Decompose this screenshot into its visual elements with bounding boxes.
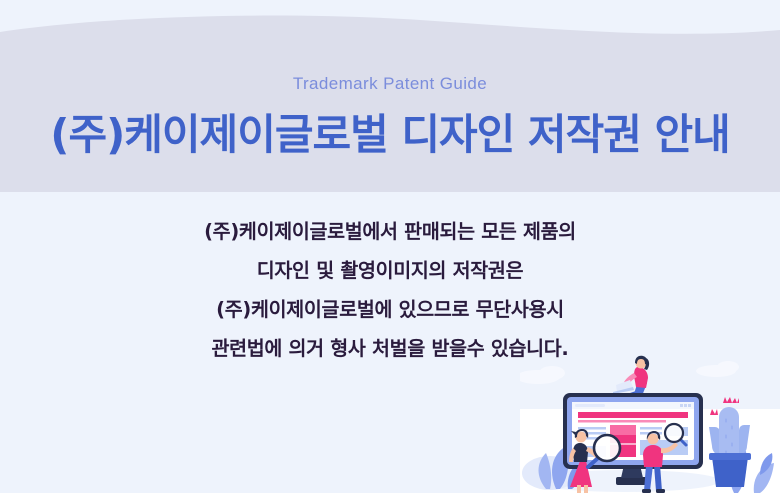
header-text-group: Trademark Patent Guide (주)케이제이글로벌 디자인 저작…	[0, 0, 780, 192]
eyebrow-label: Trademark Patent Guide	[0, 74, 780, 94]
promo-banner: Trademark Patent Guide (주)케이제이글로벌 디자인 저작…	[0, 0, 780, 493]
notice-line: (주)케이제이글로벌에서 판매되는 모든 제품의	[0, 212, 780, 251]
illustration	[520, 353, 780, 493]
copyright-notice: (주)케이제이글로벌에서 판매되는 모든 제품의 디자인 및 촬영이미지의 저작…	[0, 212, 780, 368]
page-title: (주)케이제이글로벌 디자인 저작권 안내	[0, 101, 780, 162]
notice-line: 디자인 및 촬영이미지의 저작권은	[0, 251, 780, 290]
notice-line: (주)케이제이글로벌에 있으므로 무단사용시	[0, 290, 780, 329]
illustration-svg	[520, 353, 780, 493]
